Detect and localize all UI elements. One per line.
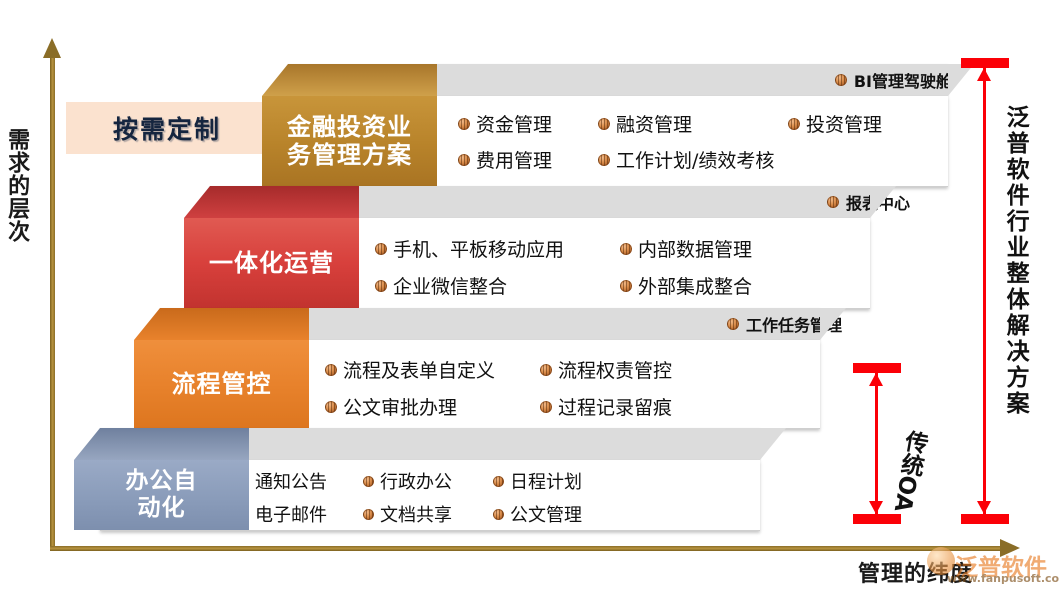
bullet-icon xyxy=(493,476,504,487)
horizontal-axis xyxy=(50,546,1005,551)
list-item: 外部集成整合 xyxy=(620,272,820,299)
list-item: 费用管理 xyxy=(458,146,598,173)
bullet-icon xyxy=(788,118,800,130)
bullet-icon xyxy=(620,243,632,255)
tier-financial-cube-label-line2: 务管理方案 xyxy=(287,141,412,169)
tier-process-shelf-title-text: 工作任务管理 xyxy=(746,312,842,336)
tier-integrated-items: 手机、平板移动应用 内部数据管理 企业微信整合 外部集成整合 xyxy=(375,235,855,299)
tier-integrated-cube: 一体化运营 xyxy=(184,186,359,308)
list-item: 投资管理 xyxy=(788,110,928,137)
list-item: 公文管理 xyxy=(493,501,623,527)
tier-process-shelf-title: 工作任务管理 xyxy=(727,308,842,340)
tier-oa-cube-top xyxy=(74,428,249,460)
tier-oa-cube-face: 办公自 动化 xyxy=(74,460,249,530)
tier-financial-shelf-title-text: BI管理驾驶舱 xyxy=(854,68,952,92)
list-item: 行政办公 xyxy=(363,468,493,494)
tier-oa-cube: 办公自 动化 xyxy=(74,428,249,530)
list-item: 手机、平板移动应用 xyxy=(375,235,620,262)
measure-fanpu-total-bottom-cap xyxy=(961,514,1009,524)
bullet-icon xyxy=(375,280,387,292)
bullet-icon xyxy=(363,509,374,520)
tier-process-cube-label: 流程管控 xyxy=(172,370,272,398)
custom-made-badge: 按需定制 xyxy=(66,102,268,154)
list-item: 公文审批办理 xyxy=(325,393,540,420)
list-item: 文档共享 xyxy=(363,501,493,527)
measure-traditional-oa-top-cap xyxy=(853,363,901,373)
list-item: 过程记录留痕 xyxy=(540,393,740,420)
measure-fanpu-total-arrow-down xyxy=(977,501,991,514)
tier-process-cube-top xyxy=(134,308,309,340)
measure-traditional-oa-line xyxy=(875,373,878,514)
watermark: 泛普软件 www.fanpusoft.com xyxy=(925,546,1060,590)
list-item: 企业微信整合 xyxy=(375,272,620,299)
custom-made-badge-label: 按需定制 xyxy=(113,110,221,146)
bullet-icon xyxy=(325,401,337,413)
bullet-icon xyxy=(540,401,552,413)
measure-traditional-oa-arrow-up xyxy=(869,373,883,386)
tier-financial-cube-face: 金融投资业 务管理方案 xyxy=(262,96,437,186)
bullet-icon xyxy=(598,118,610,130)
bullet-icon xyxy=(363,476,374,487)
bullet-icon xyxy=(375,243,387,255)
diagram-canvas: 需求的层次 管理的纬度 按需定制 BI管理驾驶舱 资金管理 融资管理 xyxy=(0,0,1060,594)
list-item: 工作计划/绩效考核 xyxy=(598,146,848,173)
list-item: 日程计划 xyxy=(493,468,623,494)
bullet-icon xyxy=(827,196,839,208)
vertical-axis-arrowhead xyxy=(43,38,61,58)
list-item: 通知公告 xyxy=(238,468,363,494)
bullet-icon xyxy=(325,364,337,376)
list-item: 电子邮件 xyxy=(238,501,363,527)
tier-process-cube-face: 流程管控 xyxy=(134,340,309,428)
bullet-icon xyxy=(458,118,470,130)
measure-fanpu-total-label: 泛普软件行业整体解决方案 xyxy=(1003,105,1027,417)
tier-oa-cube-label-line2: 动化 xyxy=(126,495,198,522)
tier-integrated-shelf-title-text: 报表中心 xyxy=(846,190,910,214)
list-item: 流程及表单自定义 xyxy=(325,356,540,383)
bullet-icon xyxy=(540,364,552,376)
tier-financial-cube: 金融投资业 务管理方案 xyxy=(262,64,437,186)
tier-financial-cube-top xyxy=(262,64,437,96)
list-item: 资金管理 xyxy=(458,110,598,137)
measure-traditional-oa-bottom-cap xyxy=(853,514,901,524)
tier-financial-items: 资金管理 融资管理 投资管理 费用管理 工作计划/绩效考核 xyxy=(458,110,928,173)
measure-fanpu-total-arrow-up xyxy=(977,68,991,81)
bullet-icon xyxy=(598,154,610,166)
list-item: 融资管理 xyxy=(598,110,788,137)
measure-traditional-oa-arrow-down xyxy=(869,501,883,514)
tier-integrated-shelf-title: 报表中心 xyxy=(827,186,910,218)
bullet-icon xyxy=(727,318,739,330)
tier-integrated-cube-label: 一体化运营 xyxy=(209,249,334,277)
bullet-icon xyxy=(835,74,847,86)
list-item: 内部数据管理 xyxy=(620,235,820,262)
bullet-icon xyxy=(458,154,470,166)
tier-oa-cube-label-line1: 办公自 xyxy=(126,468,198,495)
measure-fanpu-total-top-cap xyxy=(961,58,1009,68)
tier-process-items: 流程及表单自定义 流程权责管控 公文审批办理 过程记录留痕 xyxy=(325,356,805,420)
watermark-logo-icon xyxy=(927,547,955,575)
tier-financial-cube-label-line1: 金融投资业 xyxy=(287,113,412,141)
watermark-url: www.fanpusoft.com xyxy=(947,572,1060,585)
tier-integrated-cube-top xyxy=(184,186,359,218)
bullet-icon xyxy=(493,509,504,520)
bullet-icon xyxy=(620,280,632,292)
tier-process-cube: 流程管控 xyxy=(134,308,309,428)
tier-financial-shelf-title: BI管理驾驶舱 xyxy=(835,64,952,96)
measure-fanpu-total-line xyxy=(983,68,986,514)
tier-oa-items: 通知公告 行政办公 日程计划 电子邮件 文档共享 xyxy=(238,468,738,527)
measure-traditional-oa-label: 传统OA xyxy=(890,428,928,514)
vertical-axis xyxy=(50,55,55,550)
vertical-axis-label: 需求的层次 xyxy=(5,128,28,243)
list-item: 流程权责管控 xyxy=(540,356,740,383)
tier-integrated-cube-face: 一体化运营 xyxy=(184,218,359,308)
